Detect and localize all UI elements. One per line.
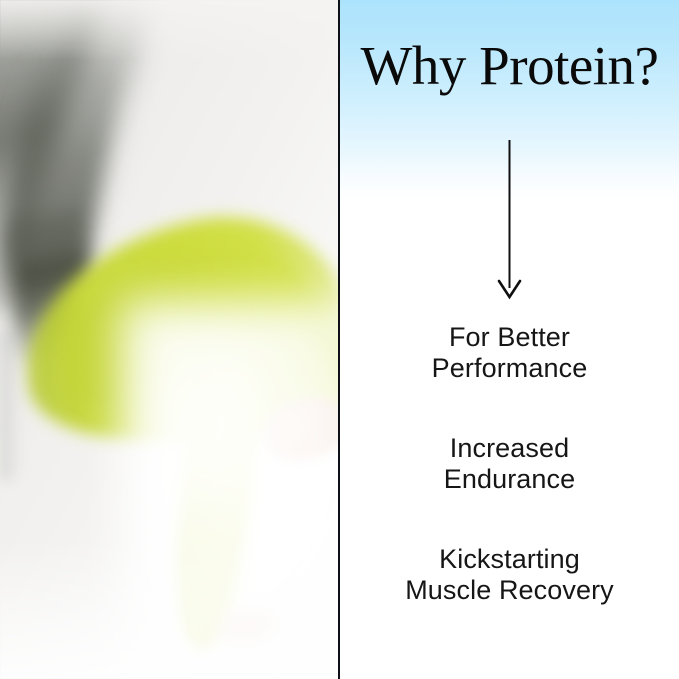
- benefits-list: For Better Performance Increased Enduran…: [340, 322, 679, 606]
- benefit-line-2: Endurance: [444, 464, 576, 495]
- infographic-canvas: Why Protein? For Better Performance Incr…: [0, 0, 679, 679]
- benefit-line-1: Increased: [444, 433, 576, 464]
- benefit-line-2: Muscle Recovery: [405, 575, 614, 606]
- runner-photo-panel: [0, 0, 339, 679]
- photo-composite: [0, 0, 339, 679]
- benefit-line-1: For Better: [432, 322, 588, 353]
- benefit-item-recovery: Kickstarting Muscle Recovery: [405, 544, 614, 606]
- benefit-item-performance: For Better Performance: [432, 322, 588, 384]
- photo-edge-band: [0, 330, 26, 480]
- benefit-line-1: Kickstarting: [405, 544, 614, 575]
- benefit-item-endurance: Increased Endurance: [444, 433, 576, 495]
- benefit-line-2: Performance: [432, 353, 588, 384]
- page-title: Why Protein?: [340, 36, 679, 96]
- photo-top-fade: [0, 0, 339, 60]
- sky-gradient-background: [340, 0, 679, 200]
- benefits-panel: Why Protein? For Better Performance Incr…: [340, 0, 679, 679]
- photo-bottom-fade: [0, 539, 339, 679]
